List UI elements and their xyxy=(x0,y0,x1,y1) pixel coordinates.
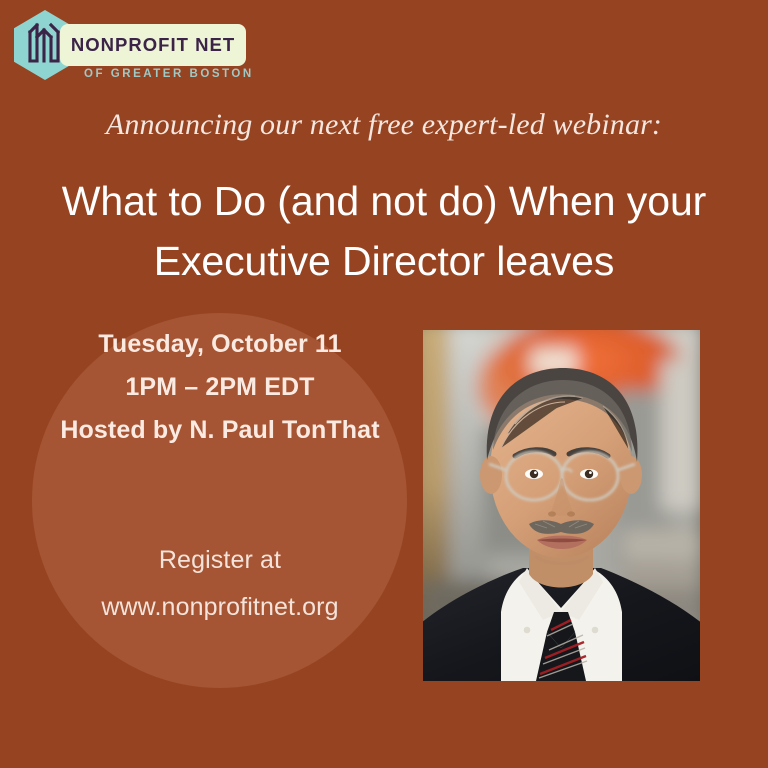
announcement-text: Announcing our next free expert-led webi… xyxy=(0,108,768,142)
speaker-portrait-photo xyxy=(423,330,700,681)
page-title: What to Do (and not do) When your Execut… xyxy=(24,172,744,292)
register-label: Register at xyxy=(0,537,440,584)
brand-name-pill: NONPROFIT NET xyxy=(60,24,246,66)
headline-line-1: What to Do (and not do) When your xyxy=(24,172,744,232)
event-details: Tuesday, October 11 1PM – 2PM EDT Hosted… xyxy=(0,323,440,452)
brand-logo-lockup[interactable]: NONPROFIT NET OF GREATER BOSTON xyxy=(10,6,260,92)
registration-callout: Register at www.nonprofitnet.org xyxy=(0,537,440,631)
register-url-link[interactable]: www.nonprofitnet.org xyxy=(0,584,440,631)
brand-name-text: NONPROFIT NET xyxy=(71,34,235,56)
event-host: Hosted by N. Paul TonThat xyxy=(0,409,440,452)
webinar-announcement-poster: NONPROFIT NET OF GREATER BOSTON Announci… xyxy=(0,0,768,768)
event-date: Tuesday, October 11 xyxy=(0,323,440,366)
brand-tagline: OF GREATER BOSTON xyxy=(84,68,254,80)
headline-line-2: Executive Director leaves xyxy=(24,232,744,292)
event-time: 1PM – 2PM EDT xyxy=(0,366,440,409)
